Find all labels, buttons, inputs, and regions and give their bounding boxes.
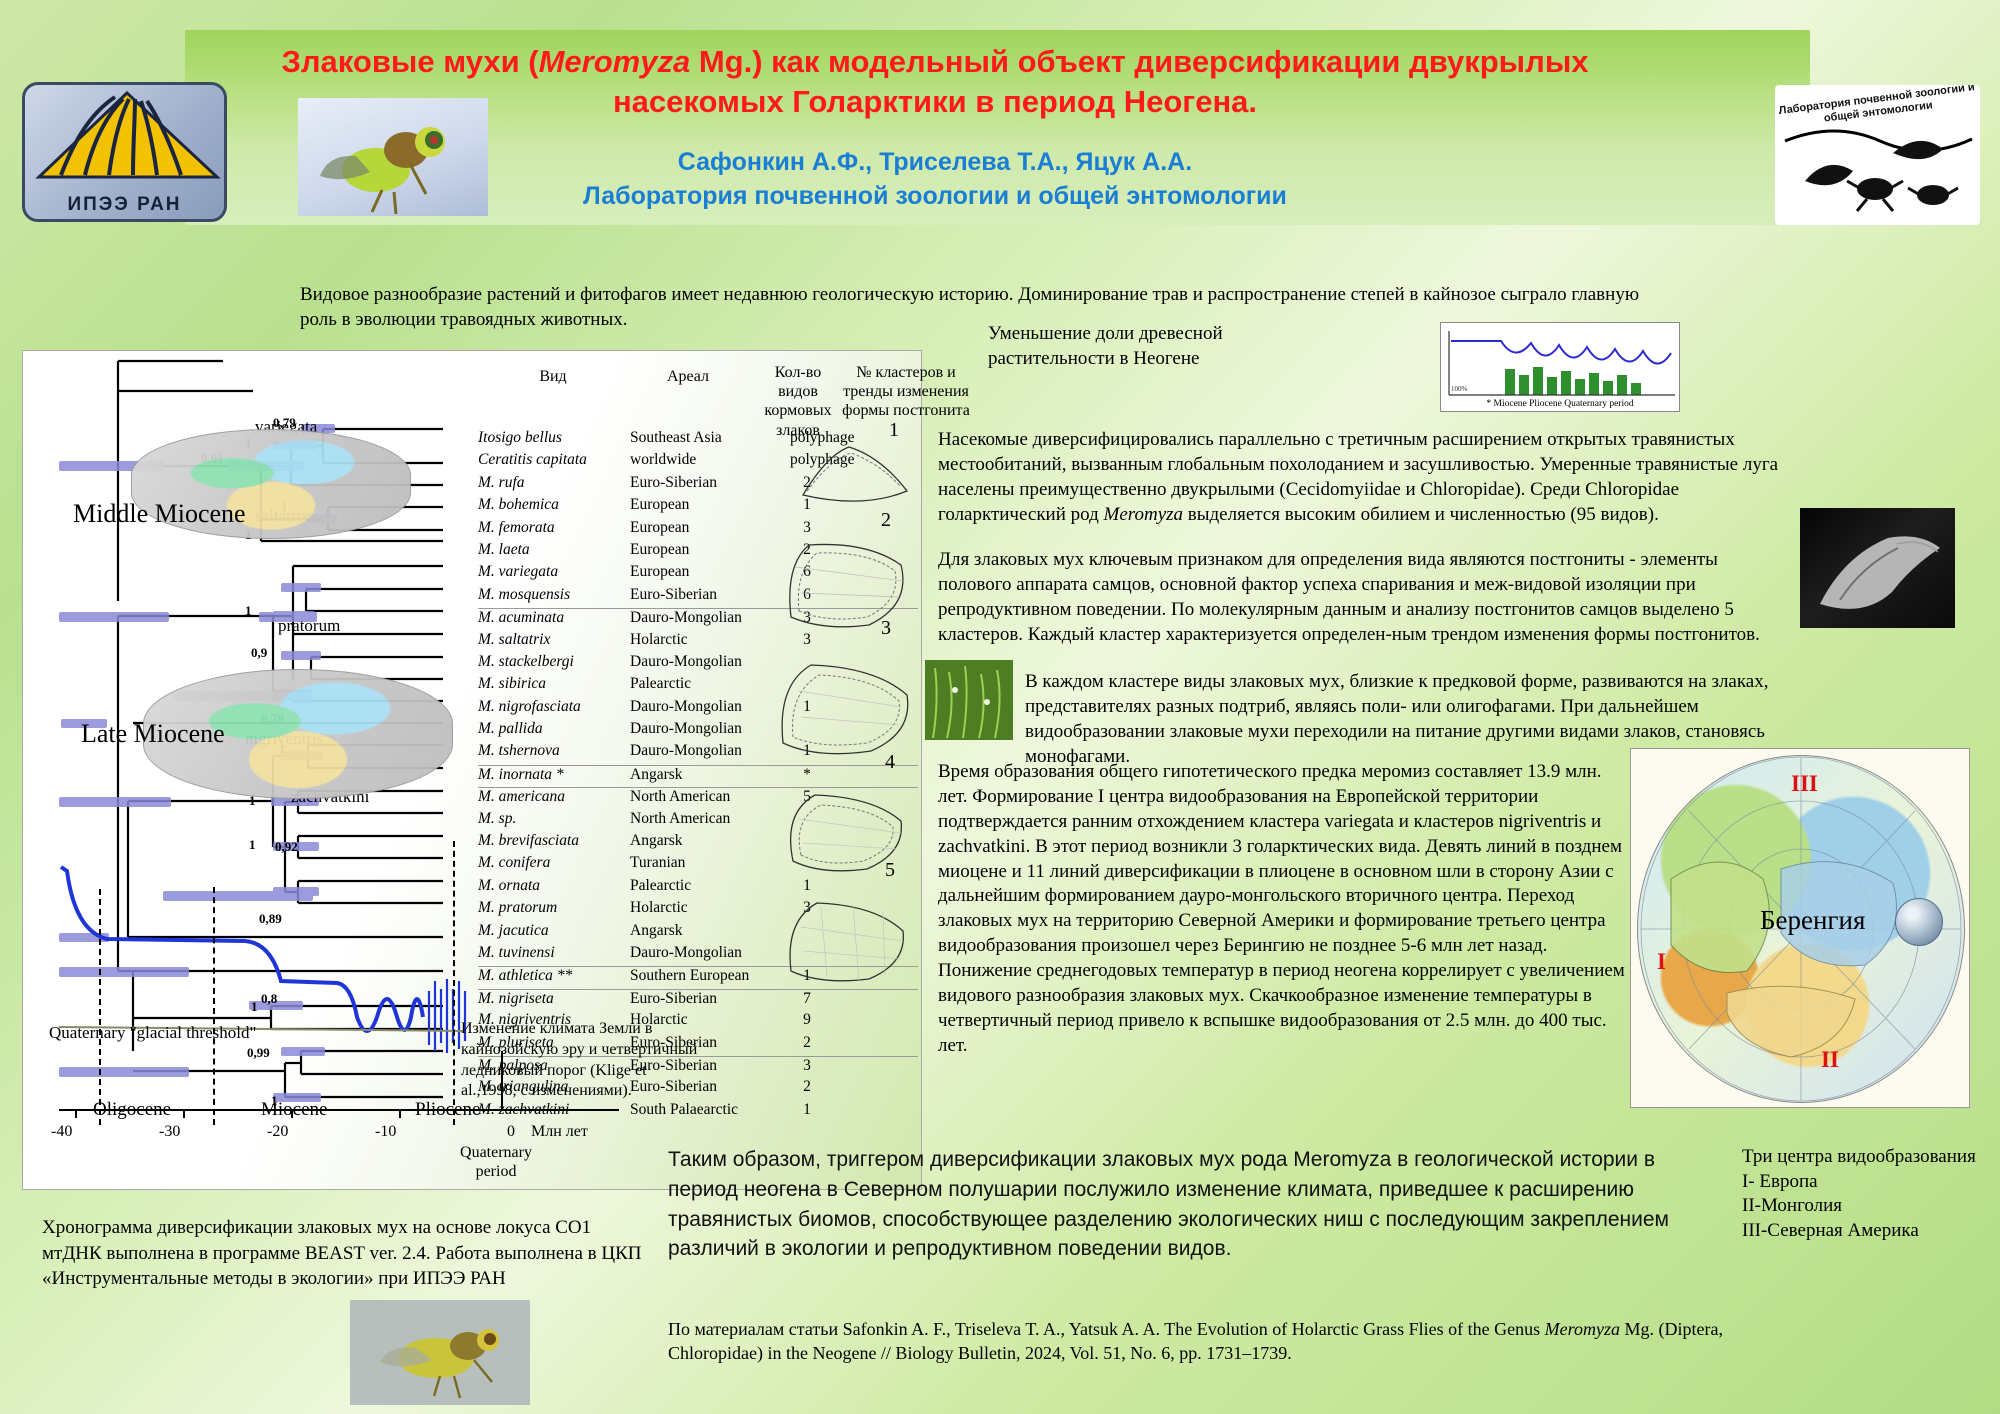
species-name: M. pallida [478,720,628,738]
species-area: Euro-Siberian [630,586,790,604]
institute-logo-ipee: ИПЭЭ РАН [22,82,227,222]
quaternary-period-label: Quaternary period [451,1143,541,1181]
species-area: Dauro-Mongolian [630,742,790,760]
fly-photograph-footer [350,1300,530,1405]
axis-label: -10 [375,1123,396,1141]
species-area: Angarsk [630,832,790,850]
pollen-caption: * Miocene Pliocene Quaternary period [1441,399,1679,409]
species-name: M. americana [478,788,628,806]
species-count: 2 [790,1078,824,1096]
gridline-dashed [99,889,101,1125]
cluster-number: 2 [881,509,891,532]
species-area: Holarctic [630,631,790,649]
paragraph-centers: Время образования общего гипотетического… [938,760,1628,1059]
species-count: 3 [790,1057,824,1075]
species-area: European [630,563,790,581]
species-area: South Palaearctic [630,1101,790,1119]
species-area: Euro-Siberian [630,474,790,492]
species-area: North American [630,788,790,806]
species-area: North American [630,810,790,828]
species-area: Palearctic [630,877,790,895]
species-count: 9 [790,1011,824,1029]
species-area: Dauro-Mongolian [630,653,790,671]
cluster-number: 3 [881,617,891,640]
legend-item-mongolia: II-Монголия [1742,1194,1992,1219]
chronogram-figure-panel: Вид Ареал Кол-во видов кормовых злаков №… [22,350,922,1190]
species-area: Southeast Asia [630,429,790,447]
species-name: M. rufa [478,474,628,492]
reference-note: По материалам статьи Safonkin A. F., Tri… [668,1318,1748,1366]
svg-text:100%: 100% [1451,385,1468,393]
species-name: M. femorata [478,519,628,537]
epoch-label-late-miocene: Late Miocene [81,719,225,749]
legend-item-europe: I- Европа [1742,1170,1992,1195]
postgonite-outline-cluster1 [793,433,918,517]
species-area: Dauro-Mongolian [630,609,790,627]
grass-habitat-photo [925,660,1013,740]
legend-item-namerica: III-Северная Америка [1742,1219,1992,1244]
title-part2: Mg.) как модельный объект диверсификации… [613,44,1589,119]
species-area: Angarsk [630,766,790,784]
species-name: Ceratitis capitata [478,451,628,469]
legend-title: Три центра видообразования [1742,1145,1992,1170]
cluster-number: 4 [885,751,895,774]
epoch-axis-label: Oligocene [93,1099,171,1121]
pollen-title-text: Уменьшение доли древесной растительности… [988,322,1288,372]
species-area: Euro-Siberian [630,990,790,1008]
clade-label-pratorum: pratorum [278,616,340,636]
species-name: M. saltatrix [478,631,628,649]
species-name: M. laeta [478,541,628,559]
axis-unit-label: Млн лет [531,1123,588,1141]
paragraph-postgonites: Для злаковых мух ключевым признаком для … [938,548,1780,648]
species-name: M. stackelbergi [478,653,628,671]
species-area: Turanian [630,854,790,872]
species-name: M. acuminata [478,609,628,627]
globe-inset-icon [1895,898,1943,946]
ref-prefix: По материалам статьи Safonkin A. F., Tri… [668,1319,1545,1339]
species-area: Holarctic [630,899,790,917]
gridline-dashed [453,841,455,1125]
sem-micrograph-postgonite [1800,508,1955,628]
axis-tick [399,1109,401,1118]
axis-tick [183,1109,185,1118]
species-name: M. inornata * [478,766,628,784]
laboratory-line: Лаборатория почвенной зоологии и общей э… [400,182,1470,211]
epoch-axis-label: Pliocene [415,1099,480,1121]
footnote-methods: Хронограмма диверсификации злаковых мух … [42,1215,642,1292]
conclusion-paragraph: Таким образом, триггером диверсификации … [668,1145,1718,1264]
species-name: M. nigrofasciata [478,698,628,716]
beringia-title: Беренгия [1760,905,1865,936]
para1-part2: выделяется высоким обилием и численность… [1183,504,1659,525]
support-value: 0,9 [251,645,267,661]
page-title: Злаковые мухи (Meromyza Mg.) как модельн… [200,42,1670,123]
species-name: M. bohemica [478,496,628,514]
gridline-dashed [213,887,215,1125]
climate-figure-caption: Изменение климата Земли в кайнозойскую э… [461,1019,701,1102]
postgonite-sem-icon [1800,508,1955,628]
axis-label: -30 [159,1123,180,1141]
species-count: * [790,766,824,784]
map-roman-I: I [1657,949,1666,975]
map-roman-II: II [1821,1047,1839,1073]
species-name: M. tshernova [478,742,628,760]
logo-left-label: ИПЭЭ РАН [25,195,224,215]
species-area: Palearctic [630,675,790,693]
axis-tick [75,1109,77,1118]
epoch-axis-label: Miocene [261,1099,327,1121]
species-area: European [630,496,790,514]
support-value: 1 [245,603,252,619]
species-area: Dauro-Mongolian [630,944,790,962]
axis-label: 0 [507,1123,515,1141]
species-name: Itosigo bellus [478,429,628,447]
pollen-diagram-thumbnail: 100% * Miocene Pliocene Quaternary perio… [1440,322,1680,412]
fly-on-substrate-icon [350,1300,530,1405]
species-area: Angarsk [630,922,790,940]
title-genus: Meromyza [539,44,691,79]
species-name: M. mosquensis [478,586,628,604]
authors-line: Сафонкин А.Ф., Триселева Т.А., Яцук А.А. [400,146,1470,180]
species-name: M. variegata [478,563,628,581]
species-area: Southern European [630,967,790,985]
map-roman-III: III [1791,771,1818,797]
cluster-number: 1 [889,419,899,442]
postgonite-outline-cluster4 [775,783,917,879]
species-name: M. sibirica [478,675,628,693]
ref-genus: Meromyza [1545,1319,1620,1339]
epoch-label-middle-miocene: Middle Miocene [73,499,246,529]
species-area: European [630,519,790,537]
species-count: 7 [790,990,824,1008]
grass-icon [925,660,1013,740]
centers-legend: Три центра видообразования I- Европа II-… [1742,1145,1992,1244]
axis-label: -20 [267,1123,288,1141]
paragraph-diversification: Насекомые диверсифицировались параллельн… [938,428,1780,528]
species-area: Dauro-Mongolian [630,720,790,738]
postgonite-outline-cluster5 [775,891,917,987]
species-count: 2 [790,1034,824,1052]
title-part1: Злаковые мухи ( [281,44,538,79]
cluster-number: 5 [885,859,895,882]
species-name: M. sp. [478,810,628,828]
para1-genus: Meromyza [1104,504,1184,525]
species-area: worldwide [630,451,790,469]
species-count: 1 [790,1101,824,1119]
glacial-threshold-label: Quaternary "glacial threshold" [49,1023,256,1043]
postgonite-outline-cluster3 [771,651,921,761]
species-area: European [630,541,790,559]
shell-logo-icon [31,89,226,181]
axis-label: -40 [51,1123,72,1141]
species-area: Dauro-Mongolian [630,698,790,716]
postgonite-outline-cluster2 [775,531,920,636]
intro-paragraph: Видовое разнообразие растений и фитофаго… [300,282,1640,332]
laboratory-logo: Лаборатория почвенной зоологии и общей э… [1775,85,1980,225]
